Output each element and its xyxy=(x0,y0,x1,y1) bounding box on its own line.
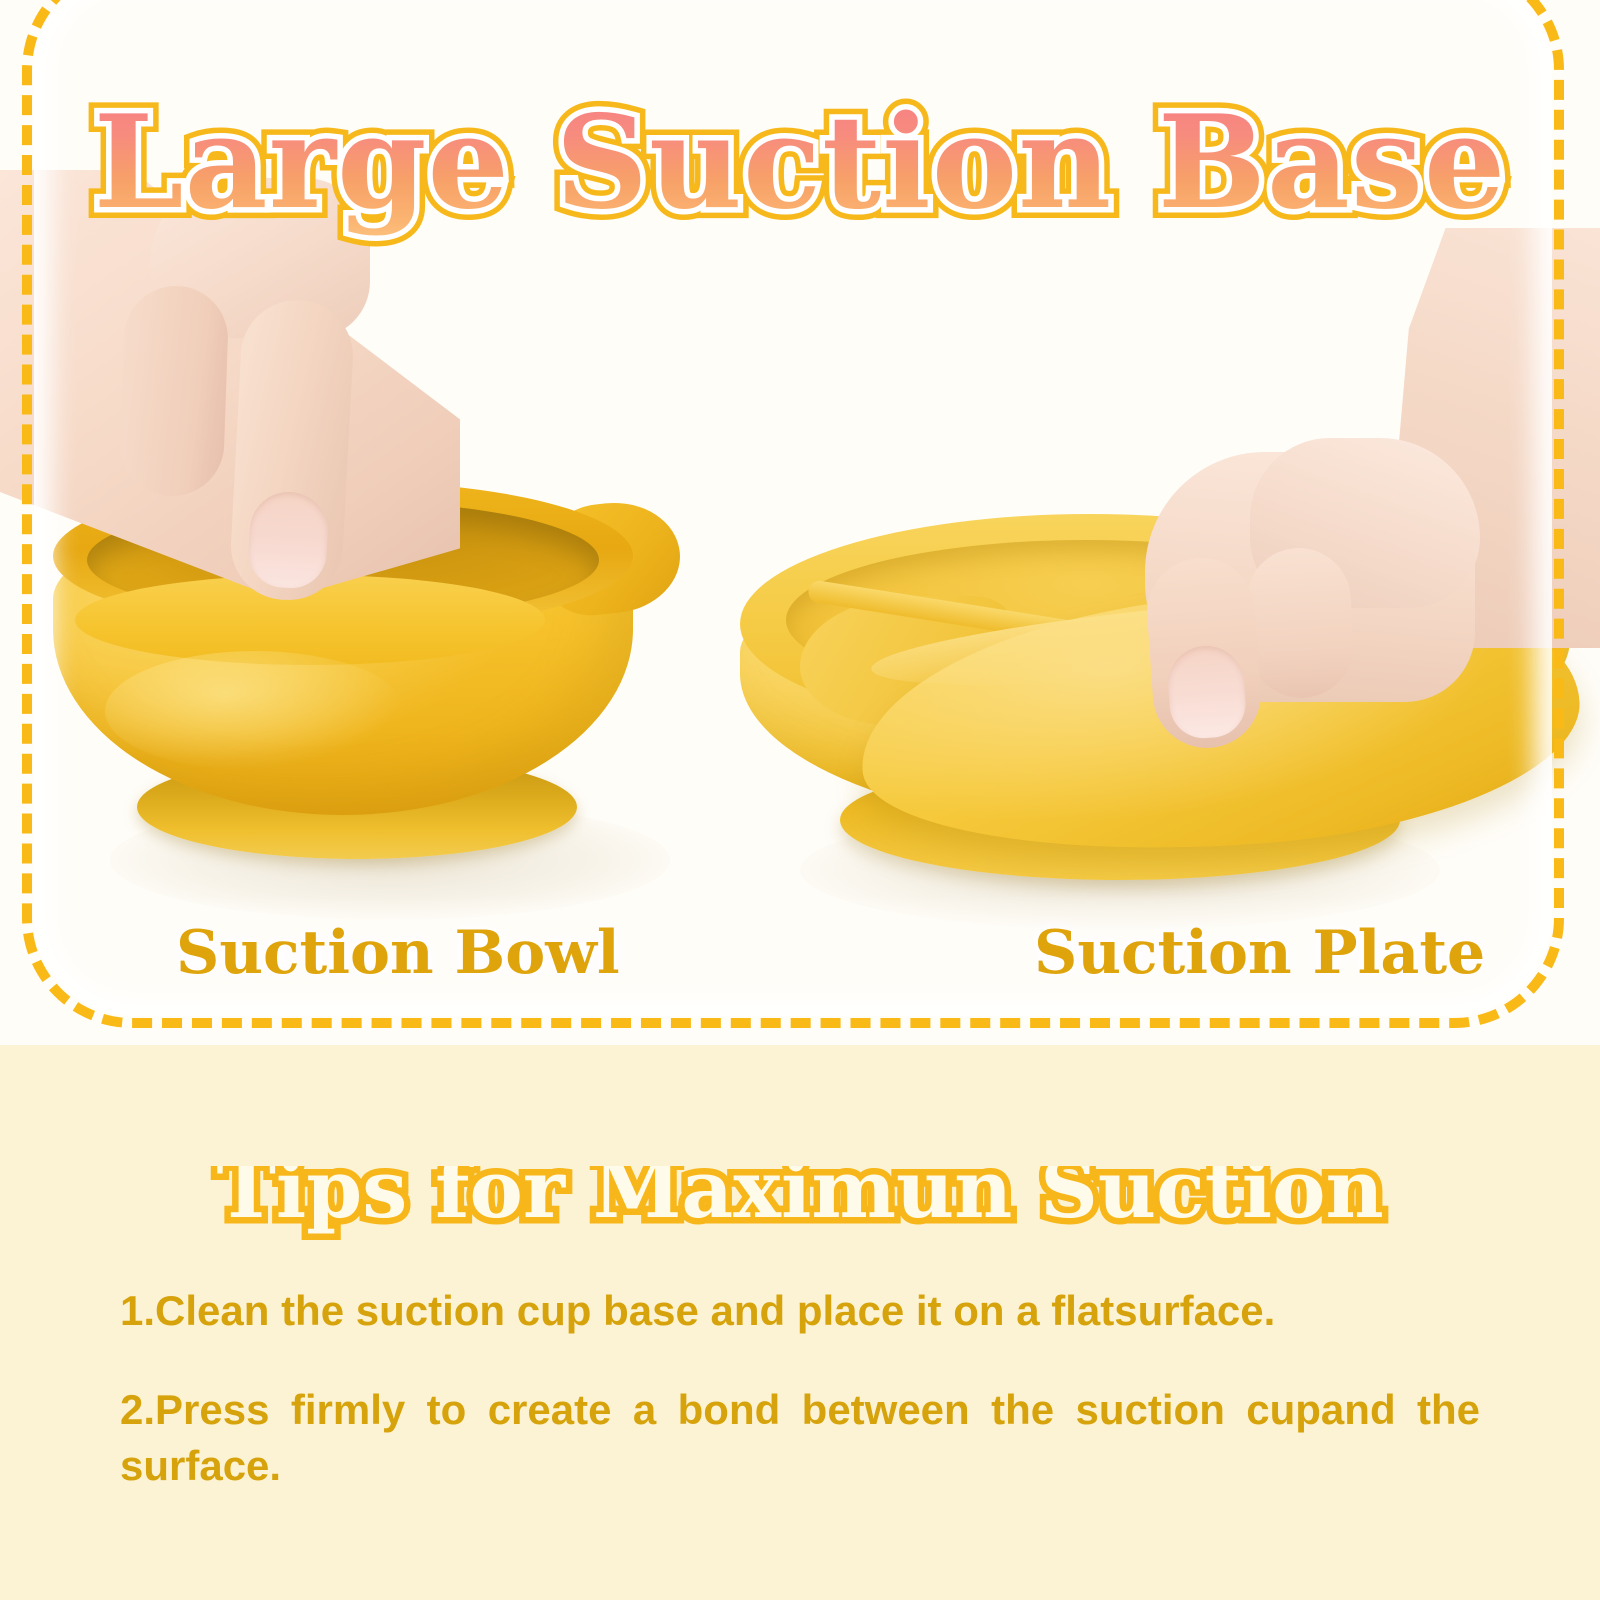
caption-suction-bowl: Suction Bowl xyxy=(176,918,620,988)
tip-item-2: 2.Press firmly to create a bond between … xyxy=(120,1382,1480,1494)
caption-suction-plate: Suction Plate xyxy=(1034,918,1485,988)
left-hand-thumb xyxy=(228,297,356,602)
page-title-fill: Large Suction Base xyxy=(94,88,1507,238)
tips-title-wrap: Tips for Maximun Suction Tips for Maximu… xyxy=(0,1141,1600,1237)
tip-item-2-text: 2.Press firmly to create a bond between … xyxy=(120,1382,1480,1494)
page-title: Large Suction Base Large Suction Base La… xyxy=(94,88,1507,238)
bowl-highlight xyxy=(105,651,405,771)
hero-section: Large Suction Base Large Suction Base La… xyxy=(0,0,1600,1045)
tip-item-1: 1.Clean the suction cup base and place i… xyxy=(120,1283,1490,1339)
right-hand-thumb xyxy=(1144,554,1265,751)
tips-title-fill: Tips for Maximun Suction xyxy=(216,1142,1383,1236)
right-thumb-nail xyxy=(1166,643,1248,740)
left-thumb-nail xyxy=(247,490,330,590)
page-title-wrap: Large Suction Base Large Suction Base La… xyxy=(0,88,1600,238)
left-hand-finger-secondary xyxy=(118,284,229,498)
tips-title: Tips for Maximun Suction Tips for Maximu… xyxy=(216,1141,1383,1237)
right-hand-finger-secondary xyxy=(1244,545,1356,700)
